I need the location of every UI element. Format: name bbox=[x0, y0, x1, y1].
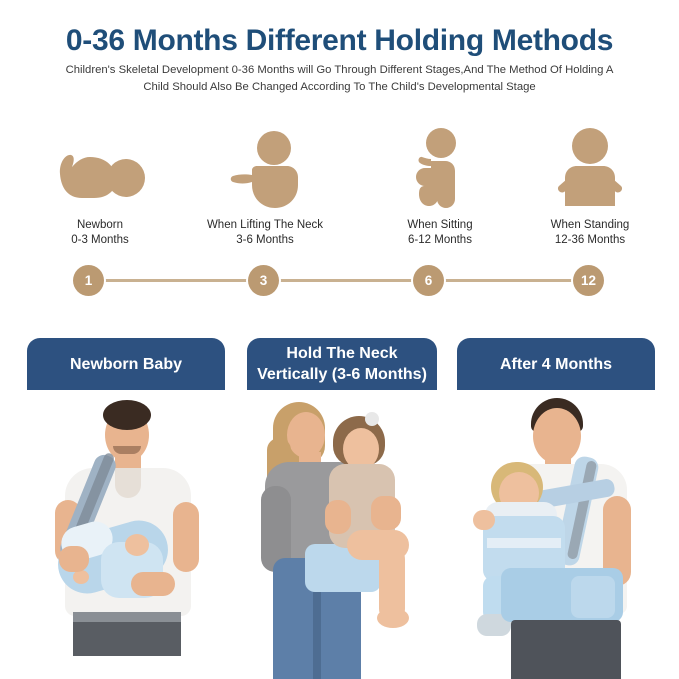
photo-toddler-hair-tie bbox=[365, 412, 379, 426]
photo-man-hair bbox=[103, 400, 151, 430]
stage-label: When Standing 12-36 Months bbox=[510, 218, 670, 248]
photo-baby-face bbox=[125, 534, 149, 556]
card-newborn-baby: Newborn Baby bbox=[27, 338, 225, 679]
card-header-label: After 4 Months bbox=[457, 338, 655, 390]
photo-baby-foot bbox=[73, 570, 89, 584]
photo-man-vneck bbox=[115, 468, 141, 498]
card-hold-neck-vertically: Hold The Neck Vertically (3-6 Months) bbox=[247, 338, 437, 679]
stage-age: 0-3 Months bbox=[20, 233, 180, 248]
photo-man-hand-right bbox=[131, 572, 175, 596]
photo-hip-seat-pocket bbox=[571, 576, 615, 618]
card-header-label: Hold The Neck Vertically (3-6 Months) bbox=[247, 338, 437, 390]
development-timeline: Newborn 0-3 Months When Lifting The Neck… bbox=[0, 130, 679, 300]
stage-age: 12-36 Months bbox=[510, 233, 670, 248]
stage-title: When Sitting bbox=[360, 218, 520, 233]
timeline-node-6: 6 bbox=[413, 265, 444, 296]
card-photo-man-cradling-newborn bbox=[27, 390, 225, 679]
subtitle-line-1: Children's Skeletal Development 0-36 Mon… bbox=[36, 62, 643, 79]
timeline-stage-standing: When Standing 12-36 Months bbox=[510, 130, 670, 248]
card-photo-man-front-carrier bbox=[457, 390, 655, 679]
stage-label: When Sitting 6-12 Months bbox=[360, 218, 520, 248]
subtitle-line-2: Child Should Also Be Changed According T… bbox=[36, 79, 643, 96]
timeline-stage-sitting: When Sitting 6-12 Months bbox=[360, 130, 520, 248]
timeline-node-12: 12 bbox=[573, 265, 604, 296]
newborn-lying-icon bbox=[20, 130, 180, 208]
timeline-stage-newborn: Newborn 0-3 Months bbox=[20, 130, 180, 248]
card-photo-woman-holding-toddler bbox=[247, 390, 437, 679]
page-subtitle: Children's Skeletal Development 0-36 Mon… bbox=[36, 62, 643, 96]
stage-label: Newborn 0-3 Months bbox=[20, 218, 180, 248]
photo-toddler-foot bbox=[377, 608, 409, 628]
photo-woman-hand-right bbox=[371, 496, 401, 530]
timeline-track bbox=[88, 279, 593, 282]
stage-age: 3-6 Months bbox=[185, 233, 345, 248]
timeline-node-3: 3 bbox=[248, 265, 279, 296]
photo-baby-hand bbox=[473, 510, 495, 530]
stage-label: When Lifting The Neck 3-6 Months bbox=[185, 218, 345, 248]
photo-man-beard bbox=[113, 446, 141, 454]
stage-title: When Standing bbox=[510, 218, 670, 233]
photo-man-right-arm bbox=[173, 502, 199, 572]
photo-man-pants bbox=[511, 620, 621, 679]
page-title: 0-36 Months Different Holding Methods bbox=[0, 24, 679, 58]
card-after-4-months: After 4 Months bbox=[457, 338, 655, 679]
baby-lifting-neck-icon bbox=[185, 130, 345, 208]
infographic-page: 0-36 Months Different Holding Methods Ch… bbox=[0, 0, 679, 679]
card-header-label: Newborn Baby bbox=[27, 338, 225, 390]
stage-title: When Lifting The Neck bbox=[185, 218, 345, 233]
photo-man-hand-left bbox=[59, 546, 89, 572]
stage-title: Newborn bbox=[20, 218, 180, 233]
photo-carrier-panel-stripe bbox=[487, 538, 561, 548]
photo-man-waistband bbox=[73, 612, 181, 622]
timeline-stage-lifting-neck: When Lifting The Neck 3-6 Months bbox=[185, 130, 345, 248]
stage-age: 6-12 Months bbox=[360, 233, 520, 248]
baby-standing-icon bbox=[510, 130, 670, 208]
timeline-node-1: 1 bbox=[73, 265, 104, 296]
photo-woman-hand-left bbox=[325, 500, 351, 534]
baby-sitting-icon bbox=[360, 130, 520, 208]
